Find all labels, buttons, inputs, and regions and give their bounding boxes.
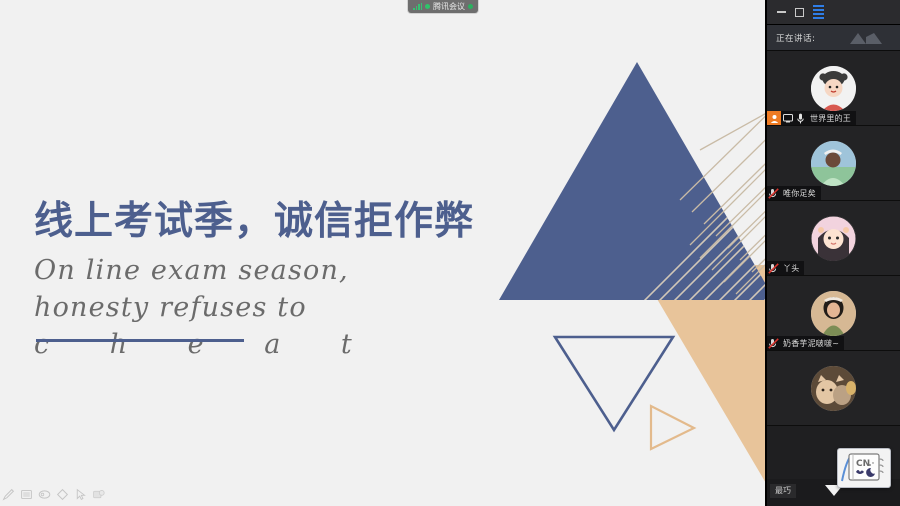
meeting-panel: 正在讲话: (765, 0, 900, 506)
screen-share-icon (781, 111, 794, 125)
list-item[interactable]: 世界里的王 (767, 51, 900, 126)
participant-name: 唯你足矣 (780, 188, 816, 199)
subtitle-line-3: c h e a t (34, 326, 378, 363)
avatar (811, 141, 856, 186)
pointer-icon[interactable] (74, 488, 87, 501)
eraser-icon[interactable] (38, 488, 51, 501)
speaking-status-bar: 正在讲话: (767, 25, 900, 51)
subtitle-line-1: On line exam season, (34, 252, 454, 289)
participant-name-tag: 世界里的王 (767, 111, 856, 125)
list-item[interactable] (767, 351, 900, 426)
list-item[interactable]: 奶香芋泥啵啵~ (767, 276, 900, 351)
screen: 线上考试季，诚信拒作弊 On line exam season, honesty… (0, 0, 900, 506)
mic-muted-icon (767, 186, 780, 200)
maximize-icon[interactable] (795, 8, 804, 17)
ime-language-bar[interactable]: CN (837, 448, 891, 488)
participant-name-tag: 奶香芋泥啵啵~ (767, 336, 844, 350)
ink-color-icon[interactable] (56, 488, 69, 501)
avatar (811, 66, 856, 111)
slide-options-icon[interactable] (92, 488, 105, 501)
presentation-toolbar[interactable] (2, 484, 105, 504)
tan-outline-triangle (651, 406, 694, 449)
ime-notebook-icon: CN (840, 451, 888, 485)
participant-name-tag: 丫头 (767, 261, 804, 275)
minimize-icon[interactable] (777, 11, 786, 13)
avatar (811, 291, 856, 336)
panel-titlebar (767, 0, 900, 25)
highlighter-icon[interactable] (20, 488, 33, 501)
status-dot-icon (425, 4, 430, 9)
list-item[interactable]: 丫头 (767, 201, 900, 276)
signal-bars-icon (413, 3, 422, 10)
menu-icon[interactable] (813, 5, 824, 19)
slide-subtitle: On line exam season, honesty refuses to … (34, 252, 454, 363)
footer-participant-name: 最巧 (770, 484, 796, 498)
meeting-app-label: 腾讯会议 (433, 0, 465, 13)
page-title: 线上考试季，诚信拒作弊 (34, 190, 474, 246)
subtitle-line-2: honesty refuses to (34, 289, 454, 326)
avatar (811, 216, 856, 261)
blue-outline-triangle (555, 337, 673, 430)
strikethrough-line (36, 339, 244, 342)
audio-wave-icon (848, 31, 888, 45)
pen-icon[interactable] (2, 488, 15, 501)
mic-muted-icon (767, 261, 780, 275)
avatar (811, 366, 856, 411)
ime-language-label: CN (856, 459, 870, 469)
host-icon (767, 111, 781, 125)
participant-name: 丫头 (780, 263, 799, 274)
participant-name: 世界里的王 (807, 113, 851, 124)
meeting-status-pill[interactable]: 腾讯会议 (408, 0, 478, 13)
participant-name-tag: 唯你足矣 (767, 186, 821, 200)
participant-list[interactable]: 世界里的王 唯你足矣 (767, 51, 900, 479)
speaking-label: 正在讲话: (776, 32, 815, 44)
list-item[interactable]: 唯你足矣 (767, 126, 900, 201)
blue-triangle (499, 62, 775, 300)
mic-muted-icon (767, 336, 780, 350)
secondary-status-dot-icon (468, 4, 473, 9)
participant-name: 奶香芋泥啵啵~ (780, 338, 839, 349)
mic-on-icon (794, 111, 807, 125)
